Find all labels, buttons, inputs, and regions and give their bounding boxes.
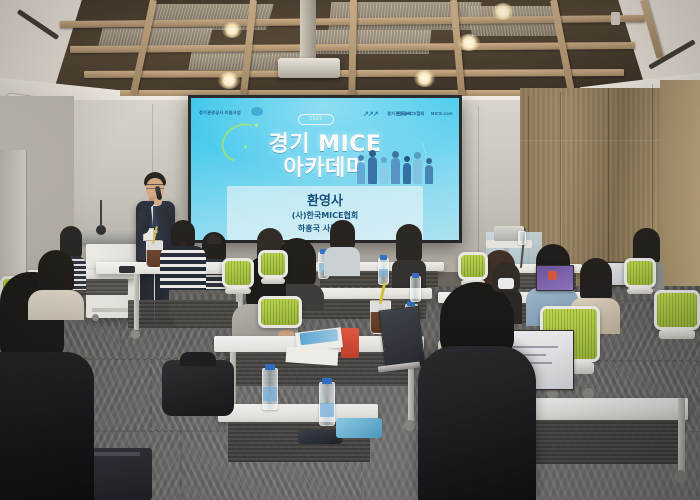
person-hair — [396, 224, 422, 264]
office-chair — [258, 250, 288, 292]
person-hair — [38, 250, 74, 294]
seminar-room-photo: 경기관광공사 지원사업 ↗↗↗ 경기관광공사 한국MICE협회 MICE.com… — [0, 0, 700, 500]
sponsor-mark-icon — [251, 107, 263, 116]
person-light-top — [324, 247, 360, 276]
slide-year-badge: 2025 — [298, 114, 334, 125]
audience-person-striped-top — [160, 220, 206, 290]
table-caster — [674, 470, 687, 483]
mic-stand-pole — [100, 200, 102, 228]
backpack-handle — [180, 352, 216, 366]
slide-logo-gg: ↗↗↗ — [363, 110, 378, 118]
audience-person-masked — [486, 262, 526, 310]
slide-logo-top-right-3: MICE.com — [431, 111, 453, 116]
person-cream-top — [28, 290, 84, 320]
left-door — [0, 150, 27, 278]
red-cup — [341, 328, 359, 358]
person-hair — [330, 220, 355, 250]
table-caster — [131, 330, 140, 339]
bottle-cap — [412, 273, 419, 278]
slide-content: 경기관광공사 지원사업 ↗↗↗ 경기관광공사 한국MICE협회 MICE.com… — [191, 98, 459, 240]
ceiling-downlight — [414, 70, 435, 87]
table-mid-left-skirt — [128, 300, 240, 328]
ceiling-downlight — [218, 72, 240, 89]
person-black-tshirt — [418, 346, 536, 500]
audience-person-standing-back — [324, 220, 360, 276]
water-bottle — [319, 382, 335, 426]
bottle-label — [379, 269, 388, 277]
office-chair — [222, 258, 254, 304]
audience-person-foreground-black-tshirt — [418, 282, 536, 500]
bottle-cap — [322, 378, 332, 384]
water-bottle — [378, 258, 389, 285]
bottle-label — [320, 403, 334, 417]
ceiling-downlight — [458, 34, 480, 51]
ceiling-projector — [278, 58, 340, 78]
table-leg — [678, 398, 685, 478]
sprinkler-head — [611, 12, 620, 25]
table-caster — [404, 420, 415, 431]
office-chair — [654, 290, 700, 350]
bottle-cap — [265, 364, 275, 370]
smartphone-blue-case — [336, 418, 382, 438]
black-backpack — [162, 360, 234, 416]
slide-panel-heading: 환영사 — [227, 190, 423, 209]
office-chair — [624, 258, 656, 304]
person-top-striped — [160, 246, 206, 290]
ceiling-downlight — [492, 3, 514, 20]
water-bottle — [518, 231, 526, 245]
wall-seam — [478, 106, 479, 256]
table-leg — [134, 274, 139, 330]
slide-logo-top-right-2: 한국MICE협회 — [397, 111, 424, 117]
audience-person-left-cream — [28, 250, 84, 320]
slide-people-illustration — [355, 148, 437, 184]
person-dark-top — [0, 352, 94, 500]
slide-logo-top-left: 경기관광공사 지원사업 — [199, 110, 241, 116]
person-hair — [580, 258, 612, 302]
face-mask — [498, 278, 514, 289]
ceiling-downlight — [222, 22, 242, 38]
bottle-cap — [380, 255, 387, 260]
laptop-screen-graphic — [548, 271, 557, 280]
bottle-label — [263, 387, 277, 401]
smartphone — [119, 266, 135, 273]
water-bottle — [262, 368, 278, 410]
person-hair-tie — [207, 234, 221, 244]
